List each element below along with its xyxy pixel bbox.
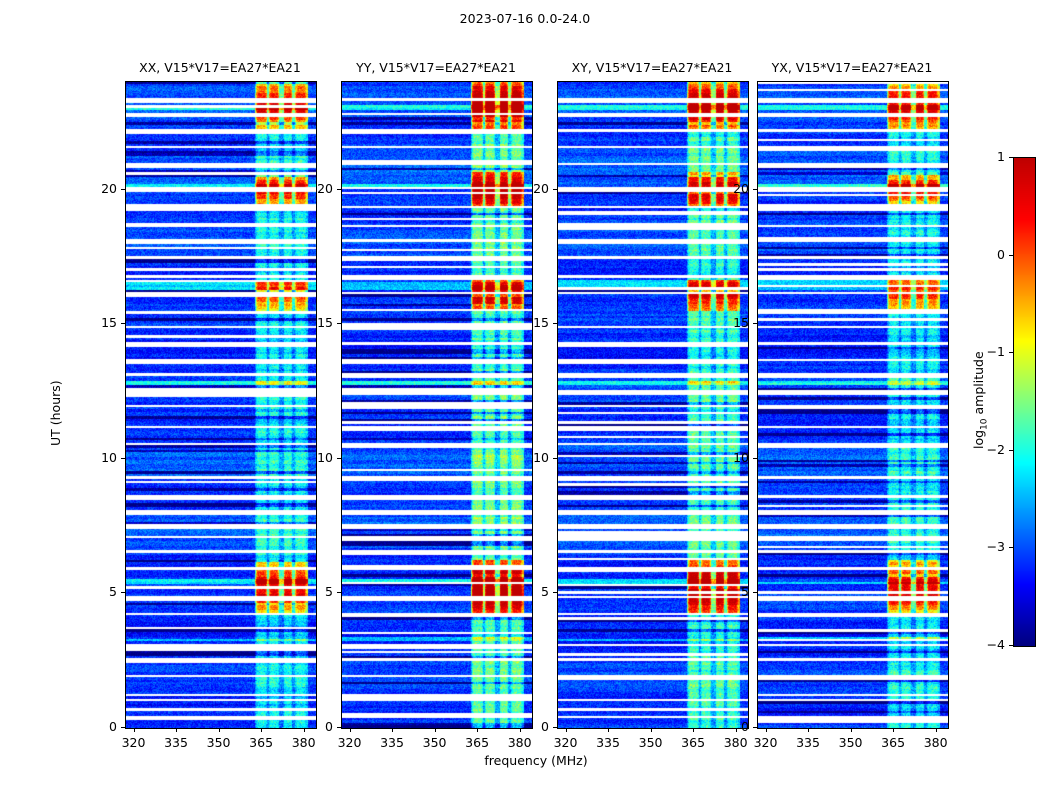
x-tick-mark (608, 728, 609, 732)
colorbar-tick-mark (1009, 352, 1013, 353)
x-tick-mark (766, 728, 767, 732)
colorbar-tick-mark (1009, 450, 1013, 451)
x-tick-label: 380 (911, 735, 961, 750)
x-tick-mark (219, 728, 220, 732)
colorbar-label-subscript: 10 (980, 418, 990, 429)
colorbar-label-suffix: amplitude (971, 351, 986, 418)
y-tick-label: 5 (77, 584, 117, 599)
colorbar-tick-label: 0 (965, 247, 1005, 262)
colorbar-tick-mark (1009, 157, 1013, 158)
x-tick-mark (808, 728, 809, 732)
x-tick-mark (176, 728, 177, 732)
waterfall-image-yy (342, 82, 532, 728)
waterfall-image-yx (758, 82, 948, 728)
colorbar-tick-label: 1 (965, 149, 1005, 164)
x-tick-label: 380 (279, 735, 329, 750)
y-tick-label: 5 (709, 584, 749, 599)
y-tick-label: 20 (77, 181, 117, 196)
colorbar-tick-mark (1009, 645, 1013, 646)
y-tick-mark (121, 592, 125, 593)
y-tick-mark (121, 458, 125, 459)
y-tick-mark (337, 323, 341, 324)
y-tick-label: 20 (709, 181, 749, 196)
y-tick-mark (753, 323, 757, 324)
y-tick-mark (553, 458, 557, 459)
y-tick-mark (337, 458, 341, 459)
x-tick-mark (851, 728, 852, 732)
colorbar-label-prefix: log (971, 430, 986, 449)
y-tick-mark (553, 323, 557, 324)
y-tick-label: 10 (509, 450, 549, 465)
y-tick-label: 10 (77, 450, 117, 465)
x-tick-mark (350, 728, 351, 732)
y-tick-label: 10 (293, 450, 333, 465)
y-tick-label: 0 (509, 719, 549, 734)
y-tick-mark (337, 592, 341, 593)
y-tick-label: 0 (709, 719, 749, 734)
panel-title-xy: XY, V15*V17=EA27*EA21 (557, 60, 747, 75)
y-tick-label: 5 (293, 584, 333, 599)
y-tick-mark (337, 727, 341, 728)
x-tick-mark (893, 728, 894, 732)
x-tick-mark (936, 728, 937, 732)
x-tick-mark (651, 728, 652, 732)
y-tick-mark (753, 189, 757, 190)
waterfall-panel-xy[interactable] (557, 81, 749, 729)
y-tick-label: 0 (77, 719, 117, 734)
y-axis-label: UT (hours) (48, 380, 63, 446)
waterfall-panel-yx[interactable] (757, 81, 949, 729)
y-tick-label: 15 (293, 315, 333, 330)
y-tick-mark (337, 189, 341, 190)
x-tick-mark (566, 728, 567, 732)
y-tick-label: 15 (509, 315, 549, 330)
panel-title-xx: XX, V15*V17=EA27*EA21 (125, 60, 315, 75)
y-tick-mark (121, 727, 125, 728)
y-tick-label: 0 (293, 719, 333, 734)
x-tick-mark (477, 728, 478, 732)
y-tick-mark (753, 458, 757, 459)
y-tick-mark (553, 592, 557, 593)
colorbar-label: log10 amplitude (971, 351, 990, 449)
colorbar-tick-label: −3 (965, 539, 1005, 554)
y-tick-mark (753, 727, 757, 728)
figure-suptitle: 2023-07-16 0.0-24.0 (0, 11, 1050, 26)
panel-title-yy: YY, V15*V17=EA27*EA21 (341, 60, 531, 75)
waterfall-panel-xx[interactable] (125, 81, 317, 729)
y-tick-label: 20 (509, 181, 549, 196)
y-tick-label: 15 (709, 315, 749, 330)
x-tick-mark (261, 728, 262, 732)
waterfall-image-xy (558, 82, 748, 728)
x-axis-label: frequency (MHz) (125, 753, 947, 768)
y-tick-label: 10 (709, 450, 749, 465)
y-tick-label: 20 (293, 181, 333, 196)
x-tick-mark (693, 728, 694, 732)
y-tick-label: 15 (77, 315, 117, 330)
y-tick-label: 5 (509, 584, 549, 599)
x-tick-mark (435, 728, 436, 732)
x-tick-mark (134, 728, 135, 732)
y-tick-mark (121, 323, 125, 324)
panel-title-yx: YX, V15*V17=EA27*EA21 (757, 60, 947, 75)
figure-canvas: 2023-07-16 0.0-24.0 UT (hours) frequency… (0, 0, 1050, 800)
colorbar-tick-mark (1009, 255, 1013, 256)
waterfall-image-xx (126, 82, 316, 728)
y-tick-mark (553, 189, 557, 190)
colorbar-tick-label: −4 (965, 637, 1005, 652)
waterfall-panel-yy[interactable] (341, 81, 533, 729)
colorbar-tick-mark (1009, 547, 1013, 548)
y-tick-mark (553, 727, 557, 728)
y-tick-mark (753, 592, 757, 593)
x-tick-label: 380 (495, 735, 545, 750)
x-tick-mark (392, 728, 393, 732)
y-tick-mark (121, 189, 125, 190)
colorbar[interactable] (1013, 157, 1036, 647)
